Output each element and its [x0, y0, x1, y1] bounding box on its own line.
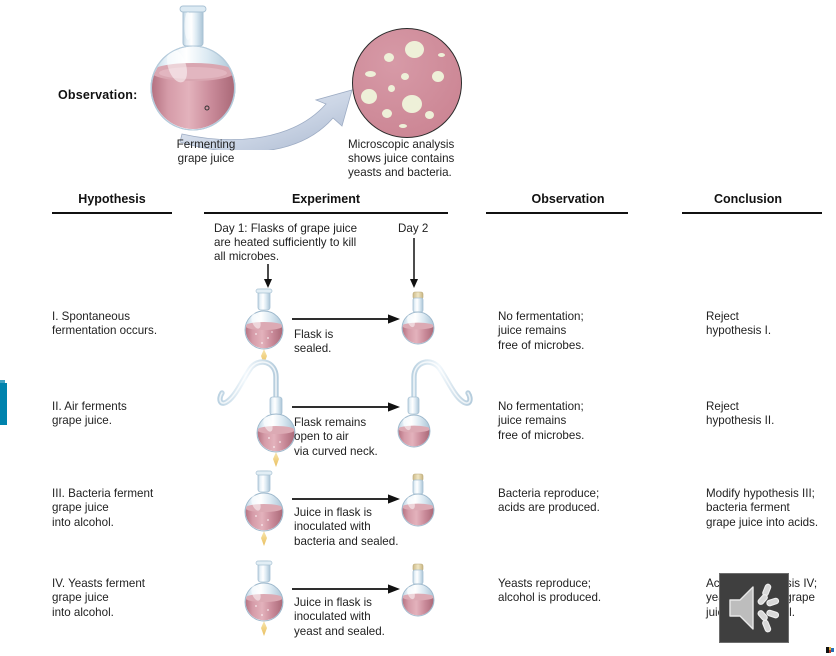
- observation-label: Observation:: [58, 88, 138, 102]
- experiment-cell-1: Flask is sealed.: [294, 328, 404, 357]
- left-edge-marker: [0, 383, 7, 425]
- hypothesis-line: into alcohol.: [70, 516, 224, 530]
- hypothesis-line: fermentation occurs.: [70, 324, 220, 338]
- observation-line: No fermentation;: [498, 310, 658, 324]
- speaker-glyph: [720, 574, 788, 642]
- day1-label: Day 1: Flasks of grape juice are heated …: [214, 222, 414, 265]
- caption-line: Microscopic analysis: [348, 138, 498, 152]
- caption-line: grape juice: [146, 152, 266, 166]
- experiment-line: via curved neck.: [294, 445, 404, 459]
- flask-day2-row-2-swan-neck: [390, 355, 480, 455]
- hypothesis-line: IV. Yeasts ferment: [70, 577, 224, 591]
- column-header-observation: Observation: [484, 192, 652, 206]
- conclusion-line: grape juice into acids.: [706, 516, 836, 530]
- header-rule-experiment: [204, 212, 448, 214]
- caption-line: Fermenting: [146, 138, 266, 152]
- conclusion-cell-3: Modify hypothesis III; bacteria ferment …: [706, 487, 836, 530]
- header-rule-conclusion: [682, 212, 822, 214]
- experiment-line: yeast and sealed.: [294, 625, 414, 639]
- hypothesis-cell-2: II. Air ferments grape juice.: [52, 400, 220, 429]
- flask-day1-row-2-swan-neck: [214, 355, 304, 467]
- experiment-line: Flask remains: [294, 416, 404, 430]
- microscope-field-illustration: [352, 28, 462, 138]
- conclusion-line: hypothesis I.: [706, 324, 836, 338]
- hypothesis-line: into alcohol.: [70, 606, 224, 620]
- experiment-line: open to air: [294, 430, 404, 444]
- right-arrow-icon: [292, 492, 400, 506]
- day1-line: all microbes.: [214, 250, 414, 264]
- caption-line: yeasts and bacteria.: [348, 166, 498, 180]
- experiment-line: bacteria and sealed.: [294, 535, 414, 549]
- observation-line: acids are produced.: [498, 501, 658, 515]
- header-rule-observation: [486, 212, 628, 214]
- day2-label: Day 2: [398, 222, 428, 236]
- observation-line: Bacteria reproduce;: [498, 487, 658, 501]
- header-rule-hypothesis: [52, 212, 172, 214]
- flask-day1-row-1: [236, 288, 292, 364]
- hypothesis-line: III. Bacteria ferment: [70, 487, 224, 501]
- observation-line: juice remains: [498, 324, 658, 338]
- observation-line: alcohol is produced.: [498, 591, 658, 605]
- hypothesis-cell-1: I. Spontaneous fermentation occurs.: [52, 310, 220, 339]
- conclusion-line: Reject: [706, 400, 836, 414]
- day1-line: Day 1: Flasks of grape juice: [214, 222, 414, 236]
- fermenting-flask-caption: Fermenting grape juice: [146, 138, 266, 166]
- observation-cell-2: No fermentation; juice remains free of m…: [498, 400, 658, 443]
- conclusion-cell-1: Reject hypothesis I.: [706, 310, 836, 339]
- observation-cell-4: Yeasts reproduce; alcohol is produced.: [498, 577, 658, 606]
- observation-line: No fermentation;: [498, 400, 658, 414]
- experiment-line: Flask is: [294, 328, 404, 342]
- hypothesis-cell-3: III. Bacteria ferment grape juice into a…: [52, 487, 224, 530]
- flask-day1-row-4: [236, 560, 292, 636]
- conclusion-cell-2: Reject hypothesis II.: [706, 400, 836, 429]
- figure-canvas: Observation:: [0, 0, 836, 656]
- conclusion-line: hypothesis II.: [706, 414, 836, 428]
- down-arrow-icon: [262, 264, 274, 288]
- column-header-hypothesis: Hypothesis: [28, 192, 196, 206]
- observation-cell-3: Bacteria reproduce; acids are produced.: [498, 487, 658, 516]
- day1-line: are heated sufficiently to kill: [214, 236, 414, 250]
- hypothesis-line: grape juice.: [70, 414, 220, 428]
- flask-day2-row-1: [394, 288, 442, 348]
- hypothesis-line: grape juice: [70, 501, 224, 515]
- corner-artifact: [826, 645, 836, 655]
- right-arrow-icon: [292, 582, 400, 596]
- observation-line: free of microbes.: [498, 339, 658, 353]
- observation-line: juice remains: [498, 414, 658, 428]
- experiment-line: sealed.: [294, 342, 404, 356]
- observation-line: Yeasts reproduce;: [498, 577, 658, 591]
- flask-day2-row-3: [394, 470, 442, 530]
- right-arrow-icon: [292, 312, 400, 326]
- column-header-experiment: Experiment: [204, 192, 448, 206]
- column-header-conclusion: Conclusion: [664, 192, 832, 206]
- down-arrow-icon: [408, 238, 420, 288]
- experiment-cell-2: Flask remains open to air via curved nec…: [294, 416, 404, 459]
- observation-line: free of microbes.: [498, 429, 658, 443]
- hypothesis-line: grape juice: [70, 591, 224, 605]
- hypothesis-line: II. Air ferments: [70, 400, 220, 414]
- conclusion-line: Reject: [706, 310, 836, 324]
- flask-day2-row-4: [394, 560, 442, 620]
- conclusion-line: bacteria ferment: [706, 501, 836, 515]
- microscope-caption: Microscopic analysis shows juice contain…: [348, 138, 498, 181]
- left-edge-marker-tip: [0, 380, 5, 385]
- observation-cell-1: No fermentation; juice remains free of m…: [498, 310, 658, 353]
- conclusion-line: Modify hypothesis III;: [706, 487, 836, 501]
- hypothesis-cell-4: IV. Yeasts ferment grape juice into alco…: [52, 577, 224, 620]
- flask-day1-row-3: [236, 470, 292, 546]
- right-arrow-icon: [292, 400, 400, 414]
- hypothesis-line: I. Spontaneous: [70, 310, 220, 324]
- caption-line: shows juice contains: [348, 152, 498, 166]
- speaker-volume-icon[interactable]: [719, 573, 789, 643]
